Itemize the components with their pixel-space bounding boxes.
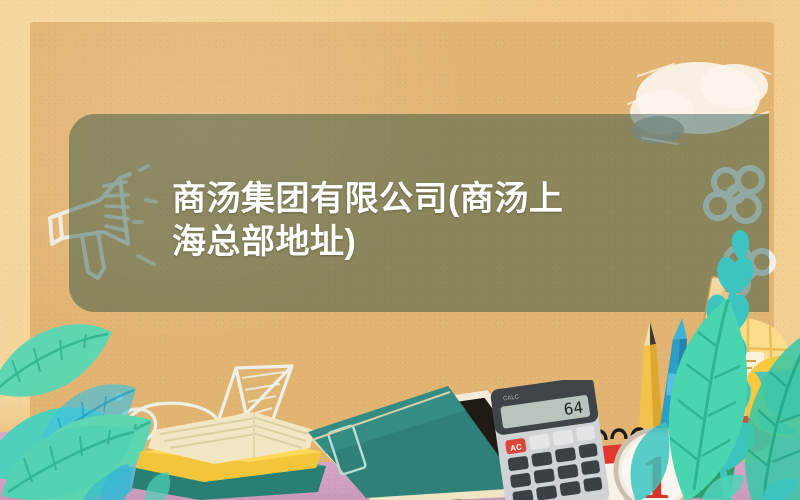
calculator-display-value: 64 xyxy=(563,398,585,419)
poster-canvas: 商汤集团有限公司(商汤上 海总部地址) xyxy=(0,0,800,500)
calculator-ac-key: AC xyxy=(510,442,523,453)
page-title: 商汤集团有限公司(商汤上 海总部地址) xyxy=(172,178,642,264)
plant-right xyxy=(612,170,800,500)
accent-shapes-bottom xyxy=(96,458,226,500)
accent-shapes-bottom-right xyxy=(700,462,800,500)
